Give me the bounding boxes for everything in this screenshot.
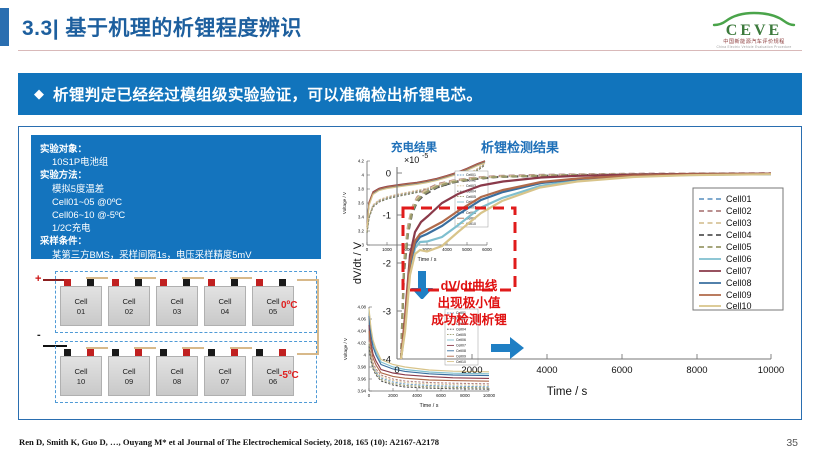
svg-text:Cell05: Cell05 bbox=[726, 242, 752, 252]
diamond-bullet-icon: ◆ bbox=[34, 86, 44, 102]
svg-text:Cell02: Cell02 bbox=[726, 206, 752, 216]
svg-text:-5: -5 bbox=[422, 153, 428, 160]
series-link bbox=[317, 279, 319, 355]
svg-text:-1: -1 bbox=[383, 211, 391, 222]
annotation-line: dV/dt曲线 bbox=[399, 278, 539, 295]
cell-box: Cell10 bbox=[60, 356, 102, 396]
svg-text:0: 0 bbox=[386, 169, 391, 180]
key-message-banner: ◆ 析锂判定已经经过模组级实验验证，可以准确检出析锂电芯。 bbox=[18, 73, 802, 115]
temp-label-bottom: -5ºC bbox=[279, 370, 299, 381]
pack-row-top: Cell01 Cell02 Cell03 Cell04 Cell05 bbox=[55, 271, 317, 333]
svg-text:Cell09: Cell09 bbox=[726, 290, 752, 300]
svg-text:Cell01: Cell01 bbox=[726, 194, 752, 204]
svg-text:-4: -4 bbox=[383, 355, 391, 366]
svg-text:Cell07: Cell07 bbox=[726, 266, 752, 276]
info-line: Cell06~10 @-5ºC bbox=[40, 208, 312, 221]
battery-pack-diagram: + - Cell01 Cell02 Cell03 Cell04 Cell05 bbox=[29, 267, 325, 409]
page-title: 3.3| 基于机理的析锂程度辨识 bbox=[22, 12, 302, 42]
info-line: 采样条件： bbox=[40, 234, 312, 247]
svg-text:6000: 6000 bbox=[611, 365, 632, 376]
cell-box: Cell01 bbox=[60, 286, 102, 326]
svg-text:4000: 4000 bbox=[536, 365, 557, 376]
svg-text:×10: ×10 bbox=[404, 155, 419, 165]
info-line: 实验方法： bbox=[40, 168, 312, 181]
info-line: Cell01~05 @0ºC bbox=[40, 195, 312, 208]
slide-header: 3.3| 基于机理的析锂程度辨识 CEVE 中国新能源汽车评价规程 China … bbox=[0, 0, 820, 54]
svg-text:Time / s: Time / s bbox=[547, 386, 588, 398]
svg-text:Cell04: Cell04 bbox=[726, 230, 752, 240]
detection-chart-title: 析锂检测结果 bbox=[481, 137, 559, 156]
source-citation: Ren D, Smith K, Guo D, …, Ouyang M* et a… bbox=[19, 437, 439, 447]
svg-text:Cell06: Cell06 bbox=[726, 254, 752, 264]
content-frame: 实验对象： 10S1P电池组 实验方法： 模拟5度温差 Cell01~05 @0… bbox=[18, 126, 802, 420]
svg-text:Cell10: Cell10 bbox=[726, 301, 752, 311]
svg-text:2000: 2000 bbox=[461, 365, 482, 376]
pack-row-bottom: Cell10 Cell09 Cell08 Cell07 Cell06 bbox=[55, 341, 317, 403]
svg-text:Cell03: Cell03 bbox=[726, 218, 752, 228]
info-line: 模拟5度温差 bbox=[40, 182, 312, 195]
ceve-logo: CEVE 中国新能源汽车评价规程 China Electric Vehicle … bbox=[706, 10, 802, 50]
annotation-line: 出现极小值 bbox=[399, 295, 539, 312]
negative-terminal-label: - bbox=[37, 329, 41, 341]
logo-cn-subtitle: 中国新能源汽车评价规程 bbox=[706, 38, 802, 45]
svg-text:8000: 8000 bbox=[686, 365, 707, 376]
temp-label-top: 0ºC bbox=[281, 300, 297, 311]
svg-text:0: 0 bbox=[394, 365, 399, 376]
positive-terminal-label: + bbox=[35, 273, 41, 285]
info-line: 1/2C充电 bbox=[40, 221, 312, 234]
cell-box: Cell02 bbox=[108, 286, 150, 326]
info-line: 某第三方BMS，采样间隔1s，电压采样精度5mV bbox=[40, 248, 312, 261]
svg-text:Cell08: Cell08 bbox=[726, 278, 752, 288]
header-accent-bar bbox=[0, 8, 9, 46]
cell-box: Cell08 bbox=[156, 356, 198, 396]
cell-box: Cell04 bbox=[204, 286, 246, 326]
svg-text:10000: 10000 bbox=[758, 365, 784, 376]
cell-box: Cell07 bbox=[204, 356, 246, 396]
info-line: 实验对象： bbox=[40, 142, 312, 155]
annotation-line: 成功检测析锂 bbox=[399, 312, 539, 329]
svg-text:dV/dt / V: dV/dt / V bbox=[352, 241, 364, 284]
experiment-info-box: 实验对象： 10S1P电池组 实验方法： 模拟5度温差 Cell01~05 @0… bbox=[31, 135, 321, 259]
cell-box: Cell03 bbox=[156, 286, 198, 326]
svg-text:-2: -2 bbox=[383, 259, 391, 270]
cell-box: Cell09 bbox=[108, 356, 150, 396]
series-link bbox=[297, 279, 319, 281]
banner-text: 析锂判定已经经过模组级实验验证，可以准确检出析锂电芯。 bbox=[53, 83, 482, 105]
page-number: 35 bbox=[786, 437, 798, 449]
info-line: 10S1P电池组 bbox=[40, 155, 312, 168]
detection-chart: 析锂检测结果 0 2000 4000 6000 8000 10000 0 bbox=[341, 133, 793, 413]
header-divider bbox=[18, 50, 802, 51]
svg-text:-3: -3 bbox=[383, 307, 391, 318]
logo-en-subtitle: China Electric Vehicle Evaluation Proced… bbox=[706, 45, 802, 49]
detection-annotation: dV/dt曲线 出现极小值 成功检测析锂 bbox=[399, 278, 539, 329]
series-link bbox=[297, 353, 319, 355]
detection-plot: 0 2000 4000 6000 8000 10000 0 -1 -2 -3 -… bbox=[341, 133, 793, 413]
